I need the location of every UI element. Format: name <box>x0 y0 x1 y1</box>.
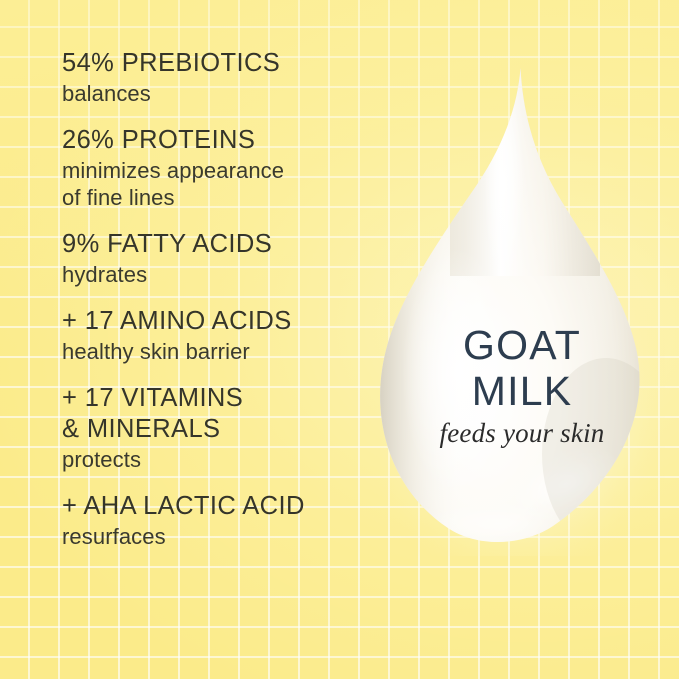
fact-item-prebiotics: 54% PREBIOTICS balances <box>62 48 382 107</box>
fact-item-fatty-acids: 9% FATTY ACIDS hydrates <box>62 229 382 288</box>
droplet-highlight-neck <box>484 80 524 288</box>
droplet-brand-caption: GOAT MILK feeds your skin <box>396 322 648 449</box>
fact-headline: 9% FATTY ACIDS <box>62 229 382 260</box>
fact-headline: + 17 AMINO ACIDS <box>62 306 382 337</box>
fact-benefit: protects <box>62 446 382 473</box>
fact-benefit: healthy skin barrier <box>62 338 382 365</box>
fact-headline: 54% PREBIOTICS <box>62 48 382 79</box>
fact-item-vitamins-minerals: + 17 VITAMINS & MINERALS protects <box>62 383 382 473</box>
fact-benefit: resurfaces <box>62 523 382 550</box>
milk-droplet-icon <box>380 56 665 556</box>
fact-item-proteins: 26% PROTEINS minimizes appearance of fin… <box>62 125 382 211</box>
fact-benefit: hydrates <box>62 261 382 288</box>
fact-headline: + 17 VITAMINS & MINERALS <box>62 383 382 445</box>
brand-word-milk: MILK <box>396 368 648 414</box>
fact-headline: + AHA LACTIC ACID <box>62 491 382 522</box>
goat-milk-infographic: 54% PREBIOTICS balances 26% PROTEINS min… <box>0 0 679 679</box>
fact-benefit: minimizes appearance of fine lines <box>62 157 382 211</box>
brand-tagline: feeds your skin <box>396 417 648 449</box>
fact-item-amino-acids: + 17 AMINO ACIDS healthy skin barrier <box>62 306 382 365</box>
fact-item-aha-lactic-acid: + AHA LACTIC ACID resurfaces <box>62 491 382 550</box>
fact-headline: 26% PROTEINS <box>62 125 382 156</box>
ingredient-facts-list: 54% PREBIOTICS balances 26% PROTEINS min… <box>62 48 382 550</box>
fact-benefit: balances <box>62 80 382 107</box>
brand-word-goat: GOAT <box>396 322 648 368</box>
